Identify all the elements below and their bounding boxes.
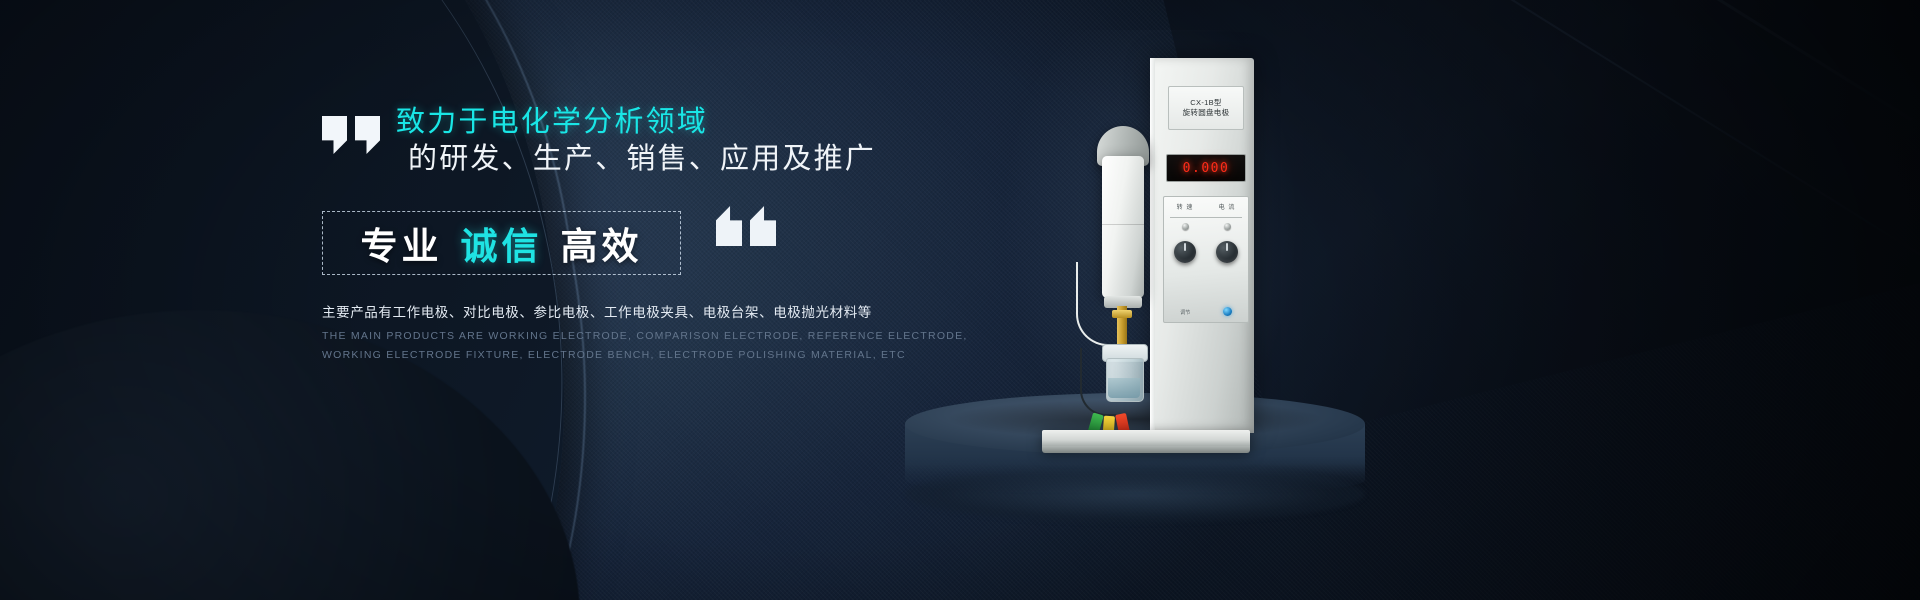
control-panel-knobs[interactable] (1164, 241, 1248, 263)
control-panel-footer: 调节 (1164, 307, 1248, 316)
slogan-part-3: 高效 (561, 216, 643, 270)
electrode-shaft-nut (1112, 310, 1132, 318)
instrument-control-panel: 转 速 电 流 调节 (1163, 196, 1249, 323)
headline-block: 致力于电化学分析领域 的研发、生产、销售、应用及推广 (322, 104, 1022, 178)
products-chinese: 主要产品有工作电极、对比电极、参比电极、工作电极夹具、电极台架、电极抛光材料等 (322, 301, 872, 321)
control-label-left: 转 速 (1177, 202, 1194, 211)
cable-gray-upper (1076, 264, 1078, 286)
rotator-motor-body (1102, 156, 1144, 298)
control-panel-headers: 转 速 电 流 (1164, 202, 1248, 211)
slogan-part-2: 诚信 (461, 216, 543, 270)
headline-text: 致力于电化学分析领域 的研发、生产、销售、应用及推广 (396, 104, 876, 178)
rotator-motor-seam (1102, 224, 1144, 225)
instrument-model-line-2: 旋转圆盘电极 (1183, 108, 1230, 118)
screw-icon (1224, 223, 1231, 230)
products-english-line-1: THE MAIN PRODUCTS ARE WORKING ELECTRODE,… (322, 327, 968, 346)
instrument-column-edge (1150, 58, 1155, 433)
cell-liquid (1108, 378, 1140, 398)
control-panel-divider (1170, 217, 1242, 218)
slogan-text: 专业 诚信 高效 (361, 216, 643, 270)
slogan-part-1: 专业 (361, 216, 443, 270)
quote-close-icon (716, 206, 778, 248)
product-instrument: CX-1B型 旋转圆盘电极 0.000 转 速 电 流 调节 (1020, 48, 1270, 448)
headline-line-1: 致力于电化学分析领域 (396, 104, 876, 141)
knob-speed[interactable] (1174, 241, 1196, 263)
power-indicator-icon (1223, 307, 1232, 316)
control-label-right: 电 流 (1219, 202, 1236, 211)
instrument-label-plate: CX-1B型 旋转圆盘电极 (1168, 86, 1244, 130)
led-display-value: 0.000 (1183, 161, 1230, 176)
quote-open-icon (322, 116, 382, 156)
headline-row: 致力于电化学分析领域 的研发、生产、销售、应用及推广 (322, 104, 1022, 178)
products-english: THE MAIN PRODUCTS ARE WORKING ELECTRODE,… (322, 327, 968, 366)
led-display: 0.000 (1166, 154, 1246, 182)
hero-banner: 致力于电化学分析领域 的研发、生产、销售、应用及推广 专业 诚信 高效 主要产品… (0, 0, 1920, 600)
knob-left-caption: 调节 (1180, 310, 1190, 316)
knob-current[interactable] (1216, 241, 1238, 263)
instrument-base-front (1042, 446, 1250, 453)
instrument-model-line-1: CX-1B型 (1190, 98, 1221, 108)
control-panel-screws (1164, 223, 1248, 230)
headline-line-2: 的研发、生产、销售、应用及推广 (408, 141, 876, 178)
screw-icon (1182, 223, 1189, 230)
products-english-line-2: WORKING ELECTRODE FIXTURE, ELECTRODE BEN… (322, 346, 968, 365)
slogan-box: 专业 诚信 高效 (322, 211, 681, 275)
